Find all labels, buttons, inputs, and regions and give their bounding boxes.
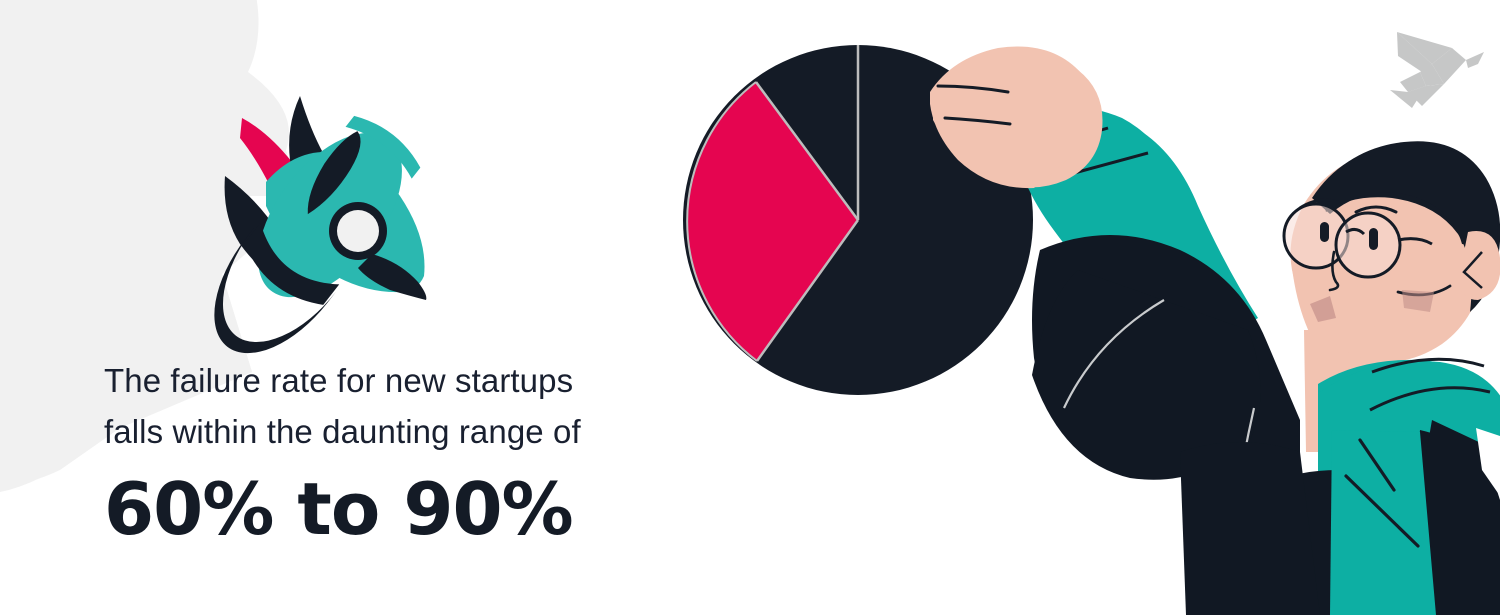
origami-bird-logo[interactable] (1390, 32, 1484, 108)
eye-right (1369, 228, 1378, 250)
callout-text-block: The failure rate for new startups falls … (104, 355, 704, 551)
rocket-porthole (329, 202, 387, 260)
scarf-strip (1330, 430, 1436, 615)
infographic-canvas: The failure rate for new startups falls … (0, 0, 1500, 615)
callout-line-1: The failure rate for new startups (104, 355, 704, 406)
eye-left (1320, 222, 1329, 242)
callout-stat: 60% to 90% (104, 467, 704, 551)
callout-line-2: falls within the daunting range of (104, 406, 704, 457)
callout-headline: The failure rate for new startups falls … (104, 355, 704, 457)
man-with-glasses (930, 46, 1500, 615)
